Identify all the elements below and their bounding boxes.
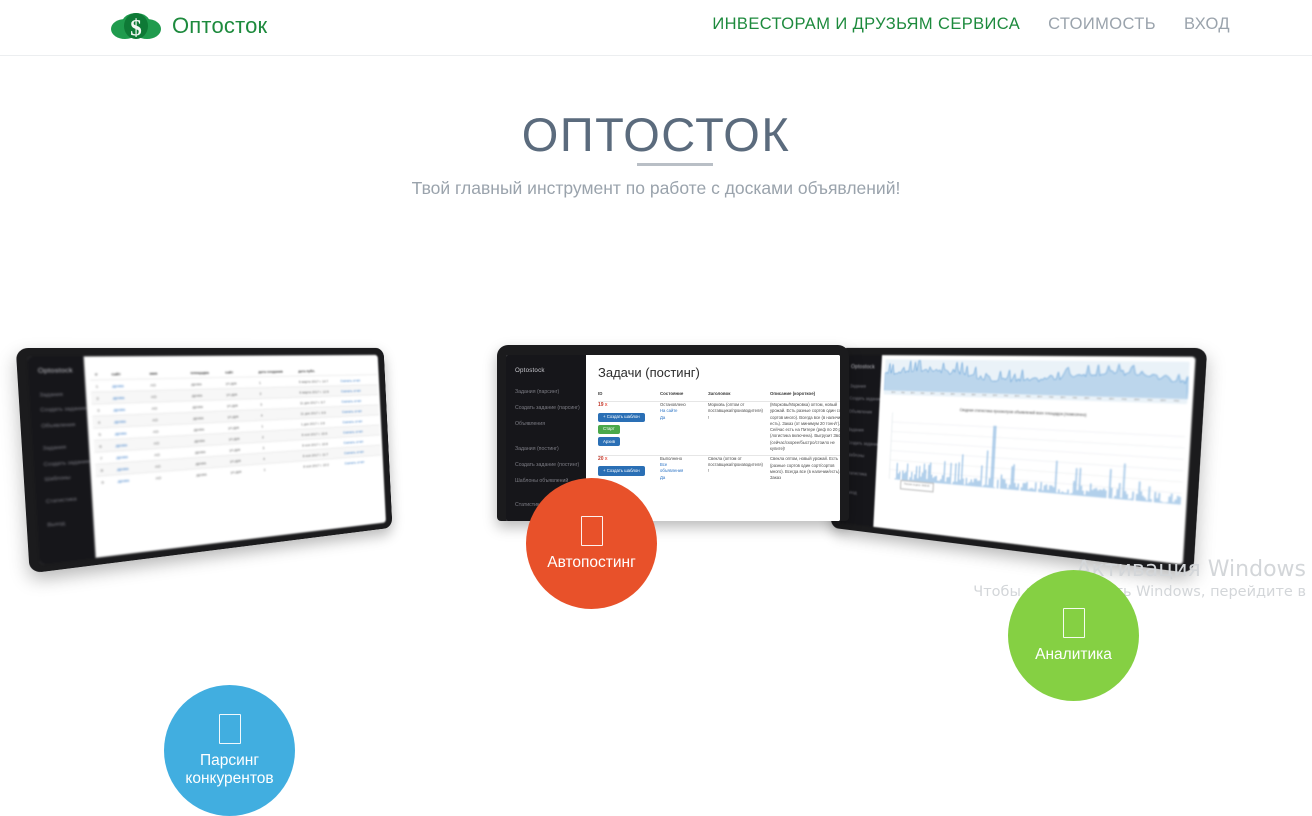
sidebar-brand: Optostock — [845, 355, 882, 371]
table-cell: дрова — [191, 381, 220, 386]
feature-circle-parsing[interactable]: Парсинг конкурентов — [164, 685, 295, 816]
table-cell: АО — [153, 439, 188, 446]
table-cell: АО — [151, 393, 186, 399]
axis-tick-label: фев — [1134, 399, 1139, 402]
table-cell: 8 ноя 2017 г. 15:6 — [301, 430, 338, 436]
sidebar-item-5[interactable]: Шаблоны — [35, 474, 91, 484]
row-action-button[interactable]: Архив — [598, 437, 620, 446]
cell-state: ОстановленоНа сайтеДа — [660, 402, 708, 456]
sidebar-item-create-task-parsing[interactable]: Создать задание (парсинг) — [506, 406, 586, 411]
table-cell: 11 дек 2017 г. 9:9 — [300, 410, 337, 416]
table-cell: дрова — [116, 441, 148, 448]
table-cell: 8 — [101, 467, 111, 472]
missing-glyph-box-icon — [1063, 608, 1085, 638]
table-cell: дрова — [112, 383, 144, 388]
table-cell: 1 дек 2017 г. 2:8 — [301, 420, 338, 426]
axis-tick-label: мар — [941, 393, 945, 395]
chart-bottom: Сводная статистика просмотров объявлений… — [879, 405, 1186, 518]
table-cell: 7 — [100, 455, 110, 460]
table-cell: АО — [153, 427, 188, 433]
axis-tick-label: фев — [1084, 397, 1089, 399]
axis-tick-label: фев — [1015, 395, 1020, 397]
sidebar-item-7[interactable]: Выход — [38, 518, 94, 529]
site-header: $ Оптосток ИНВЕСТОРАМ И ДРУЗЬЯМ СЕРВИСА … — [0, 0, 1312, 56]
table-cell: 2 — [259, 390, 294, 395]
axis-tick-label: фев — [1109, 398, 1114, 401]
feature-label-analytics: Аналитика — [1029, 646, 1118, 664]
table-cell: 8 ноя 2017 г. 11:7 — [303, 451, 340, 458]
table-cell: АО — [155, 473, 190, 480]
axis-tick-label: мар — [1122, 398, 1127, 401]
axis-tick-label: мар — [1097, 398, 1102, 401]
axis-tick-label: фев — [993, 395, 997, 397]
app-sidebar-brand: Optostock — [506, 355, 586, 374]
cell-title: Свекла (оптом от поставщика/производител… — [708, 455, 770, 484]
download-report-link[interactable]: Скачать отчёт — [342, 408, 370, 413]
table-cell: АО — [155, 461, 190, 468]
col-header: сайт — [225, 369, 253, 374]
axis-tick-label: фев — [951, 393, 955, 395]
row-action-button[interactable]: + Создать шаблон — [598, 413, 645, 422]
page-title: ОПТОСТОК — [0, 107, 1312, 162]
svg-text:$: $ — [130, 16, 142, 41]
table-cell: ул.дрв — [227, 413, 255, 419]
row-action-button[interactable]: Старт — [598, 425, 620, 434]
sidebar-item-tasks-posting[interactable]: Задания (постинг) — [506, 447, 586, 452]
download-report-link[interactable]: Скачать отчёт — [341, 388, 369, 393]
table-cell: 5 — [98, 431, 108, 436]
table-cell: 6 — [99, 443, 109, 448]
table-cell: ул.дрв — [229, 446, 257, 452]
axis-tick-label: мар — [1073, 397, 1078, 399]
axis-tick-label: фев — [1037, 396, 1042, 398]
sidebar-item-ads[interactable]: Объявления — [506, 422, 586, 427]
table-cell: 2 — [96, 395, 106, 400]
table-cell: дрова — [194, 437, 223, 443]
cell-description: (Морковь/Морковка) оптом, новый урожай. … — [770, 402, 840, 456]
sidebar-item-3[interactable]: Задания — [33, 444, 89, 453]
hero-illustration-stage: Optostock Задания Создать задание Объявл… — [0, 230, 1312, 570]
table-row: 19 X+ Создать шаблонСтартАрхивОстановлен… — [598, 402, 840, 456]
col-header: имя — [149, 370, 185, 375]
brand-name: Оптосток — [172, 13, 267, 39]
app-page-title: Задачи (постинг) — [598, 365, 840, 380]
table-cell: дрова — [113, 394, 145, 400]
table-cell: дрова — [195, 448, 224, 454]
axis-tick-label: мар — [982, 394, 986, 396]
feature-label-autoposting: Автопостинг — [541, 554, 642, 572]
table-cell: дрова — [192, 392, 221, 397]
table-cell: 3 — [97, 407, 107, 412]
table-cell: ул.дрв — [226, 380, 254, 385]
download-report-link[interactable]: Скачать отчёт — [343, 439, 371, 445]
download-report-link[interactable]: Скачать отчёт — [341, 398, 369, 403]
axis-tick-label: фев — [911, 392, 915, 394]
col-header: # — [95, 371, 105, 376]
axis-tick-label: мар — [1174, 400, 1179, 403]
axis-tick-label: фев — [1160, 400, 1165, 403]
table-cell: ул.дрв — [229, 435, 257, 441]
table-cell: АО — [150, 382, 185, 387]
sidebar-brand: Optostock — [27, 356, 84, 375]
chart-top: февмарфевмарфевмарфевмарфевмарфевмарфевм… — [884, 359, 1190, 404]
sidebar-item-0[interactable]: Задания — [30, 392, 86, 399]
col-header: дата публ. — [298, 368, 335, 373]
table-cell: 2 — [262, 433, 297, 439]
col-header: площадка — [190, 370, 219, 375]
table-cell: ул.дрв — [226, 391, 254, 396]
axis-tick-label: фев — [1061, 397, 1066, 399]
col-header: сайт — [111, 371, 143, 376]
table-cell: дрова — [195, 459, 224, 466]
download-report-link[interactable]: Скачать отчёт — [343, 428, 371, 434]
download-report-link[interactable]: Скачать отчёт — [344, 449, 372, 455]
tasks-table: ID Состояние Заголовок Описание (коротко… — [598, 391, 840, 484]
nav-item-login[interactable]: ВХОД — [1170, 15, 1244, 34]
cloud-dollar-logo-icon: $ — [110, 10, 162, 42]
table-cell: 11 дек 2017 г. 9:7 — [300, 399, 337, 405]
feature-label-parsing: Парсинг конкурентов — [179, 752, 279, 788]
axis-tick-label: фев — [930, 393, 934, 395]
cell-description: Свекла оптом, новый урожай. Есть (разные… — [770, 455, 840, 481]
table-cell: 1 — [96, 383, 106, 388]
sidebar-item-tasks-parsing[interactable]: Задания (парсинг) — [506, 390, 586, 395]
col-header-title: Заголовок — [708, 391, 770, 402]
axis-tick-label: мар — [1049, 396, 1054, 398]
sidebar-item-6[interactable]: Статистика — [36, 496, 92, 506]
download-report-link[interactable]: Скачать отчёт — [340, 378, 368, 383]
axis-tick-label: мар — [901, 392, 905, 394]
table-cell: 9 марта 2017 г. 14:7 — [299, 379, 336, 384]
table-cell: 4 — [98, 419, 108, 424]
table-cell: дрова — [193, 414, 222, 420]
download-report-link[interactable]: Скачать отчёт — [344, 459, 372, 465]
cell-title: Морковь (оптом от поставщика/производите… — [708, 402, 770, 456]
table-cell: дрова — [118, 476, 150, 483]
table-cell: 4 — [263, 454, 298, 461]
table-cell: АО — [151, 404, 186, 410]
table-cell: 1 — [259, 379, 294, 384]
axis-tick-label: мар — [1147, 399, 1152, 402]
chart-tooltip: Показов за день: 1644.42 — [900, 480, 934, 493]
table-cell: дрова — [117, 464, 149, 471]
table-cell: дрова — [192, 403, 221, 409]
missing-glyph-box-icon — [581, 516, 603, 546]
row-action-button[interactable]: + Создать шаблон — [598, 466, 645, 475]
table-cell: 9 — [101, 479, 111, 485]
brand-logo-link[interactable]: $ Оптосток — [110, 10, 267, 42]
table-cell: ул.дрв — [230, 457, 258, 463]
table-header-row: ID Состояние Заголовок Описание (коротко… — [598, 391, 840, 402]
table-cell: 9 марта 2017 г. 12:8 — [299, 389, 336, 394]
sidebar-item-create-task-posting[interactable]: Создать задание (постинг) — [506, 463, 586, 468]
axis-tick-label: фев — [971, 394, 975, 396]
table-cell: дрова — [116, 453, 148, 460]
col-header-description: Описание (короткое) — [770, 391, 840, 402]
feature-circle-analytics[interactable]: Аналитика — [1008, 570, 1139, 701]
sidebar-item-2[interactable]: Объявления — [32, 422, 88, 430]
sidebar-item-1[interactable]: Создать задание — [31, 407, 87, 414]
sidebar-item-4[interactable]: Создать задание — [34, 459, 90, 468]
col-header-state: Состояние — [660, 391, 708, 402]
table-cell: 8 ноя 2017 г. 15:8 — [302, 441, 339, 448]
table-row: 20 X+ Создать шаблонВыполненоВсеобъявлен… — [598, 455, 840, 484]
table-cell: АО — [154, 450, 189, 457]
nav-item-pricing[interactable]: СТОИМОСТЬ — [1034, 15, 1170, 34]
table-cell: дрова — [194, 426, 223, 432]
table-cell: ул.дрв — [231, 468, 259, 475]
laptop-left: Optostock Задания Создать задание Объявл… — [16, 348, 393, 574]
table-cell: ул.дрв — [228, 424, 256, 430]
table-cell: дрова — [115, 429, 147, 435]
table-cell: дрова — [196, 470, 225, 477]
axis-tick-label: мар — [921, 392, 925, 394]
main-nav: ИНВЕСТОРАМ И ДРУЗЬЯМ СЕРВИСА СТОИМОСТЬ В… — [698, 15, 1244, 34]
hero-divider — [637, 163, 713, 166]
table-cell: 3 — [260, 401, 295, 407]
missing-glyph-box-icon — [219, 714, 241, 744]
windows-activation-title: Активация Windows — [973, 556, 1306, 584]
table-cell: 1 — [263, 464, 298, 471]
nav-item-investors[interactable]: ИНВЕСТОРАМ И ДРУЗЬЯМ СЕРВИСА — [698, 15, 1034, 34]
cell-id: 19 X+ Создать шаблонСтартАрхив — [598, 402, 660, 456]
table-cell: дрова — [114, 418, 146, 424]
table-cell: ул.дрв — [227, 402, 255, 407]
axis-tick-label: мар — [1026, 396, 1030, 398]
hero-subtitle: Твой главный инструмент по работе с доск… — [0, 178, 1312, 199]
cell-state: ВыполненоВсеобъявленияДа — [660, 455, 708, 484]
laptop-right: Optostock Задания Создать задание Объявл… — [831, 348, 1208, 574]
table-cell: АО — [152, 416, 187, 422]
sidebar-item-0[interactable]: Задания — [844, 384, 881, 389]
axis-tick-label: фев — [891, 392, 895, 394]
table-cell: дрова — [113, 406, 145, 412]
table-cell: 8 ноя 2017 г. 10:2 — [303, 461, 340, 468]
table-cell: 1 — [261, 422, 296, 428]
table-cell: 4 — [261, 411, 296, 417]
feature-circle-autoposting[interactable]: Автопостинг — [526, 478, 657, 609]
col-header-id: ID — [598, 391, 660, 402]
download-report-link[interactable]: Скачать отчёт — [342, 418, 370, 423]
axis-tick-label: мар — [1004, 395, 1008, 397]
table-cell: 3 — [262, 443, 297, 450]
col-header: дата создания — [258, 369, 293, 374]
axis-tick-label: мар — [961, 394, 965, 396]
